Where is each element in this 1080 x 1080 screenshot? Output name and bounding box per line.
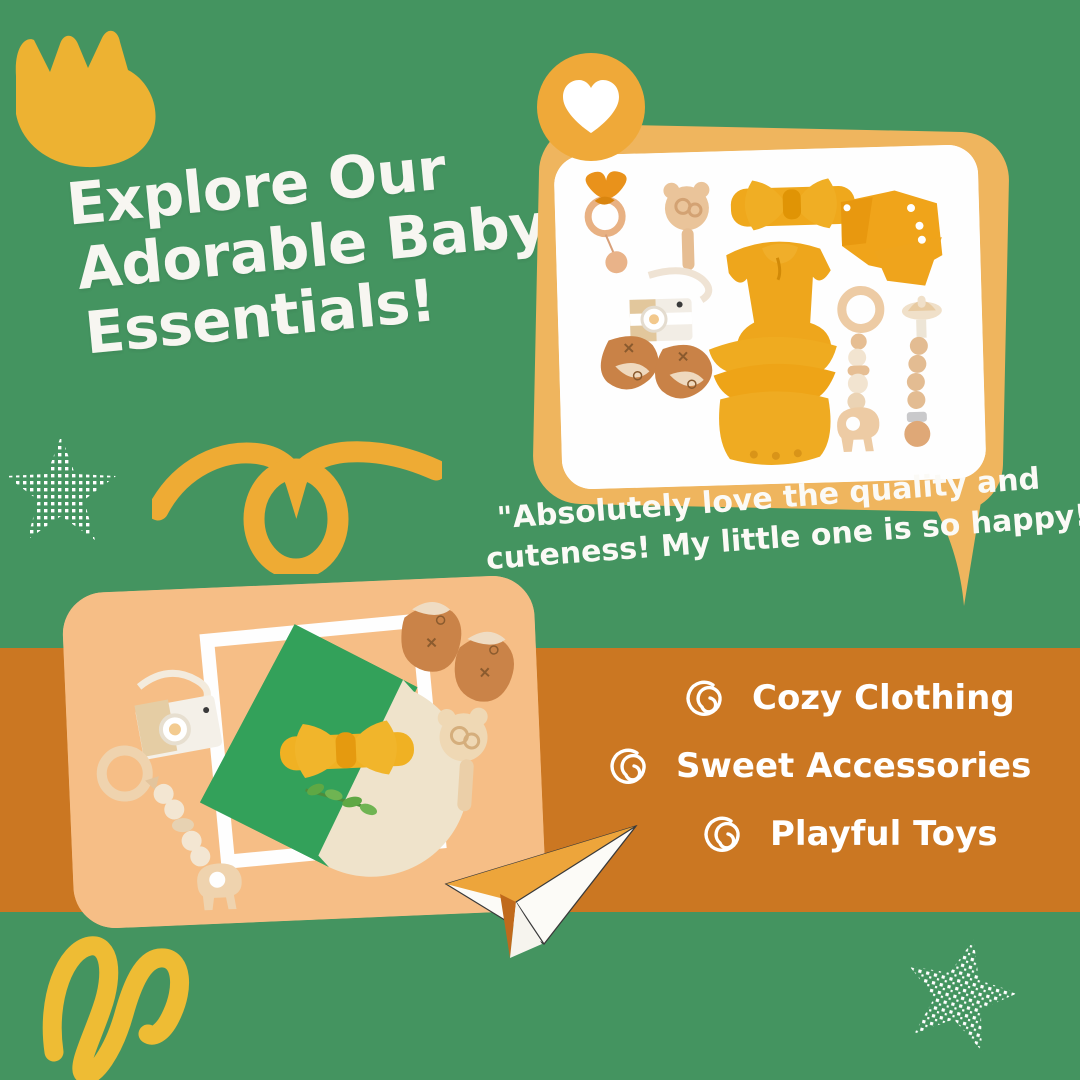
feature-item-cozy-clothing[interactable]: Cozy Clothing xyxy=(682,664,1036,732)
feature-list: Cozy Clothing Sweet Accessories Playful … xyxy=(596,664,1036,868)
hero-speech-bubble xyxy=(536,128,1006,508)
feature-label: Playful Toys xyxy=(770,814,998,854)
heart-icon xyxy=(561,79,621,135)
feature-item-playful-toys[interactable]: Playful Toys xyxy=(700,800,1036,868)
feature-item-sweet-accessories[interactable]: Sweet Accessories xyxy=(606,732,1036,800)
spiral-bullet-icon xyxy=(700,812,744,856)
poster-canvas: Explore Our Adorable Baby Essentials! xyxy=(0,0,1080,1080)
spiral-bullet-icon xyxy=(682,676,726,720)
brush-double-loop-icon xyxy=(32,932,212,1080)
hero-photo-art xyxy=(553,144,986,490)
halftone-star-icon xyxy=(885,919,1035,1069)
feature-label: Sweet Accessories xyxy=(676,746,1031,786)
spiral-bullet-icon xyxy=(606,744,650,788)
heart-badge xyxy=(537,53,645,161)
halftone-star-icon xyxy=(2,432,120,550)
brush-loop-swirl-icon xyxy=(152,424,442,574)
tulip-shape-icon xyxy=(8,18,168,168)
feature-label: Cozy Clothing xyxy=(752,678,1015,718)
hero-product-photo xyxy=(553,144,986,490)
page-title: Explore Our Adorable Baby Essentials! xyxy=(64,128,551,367)
